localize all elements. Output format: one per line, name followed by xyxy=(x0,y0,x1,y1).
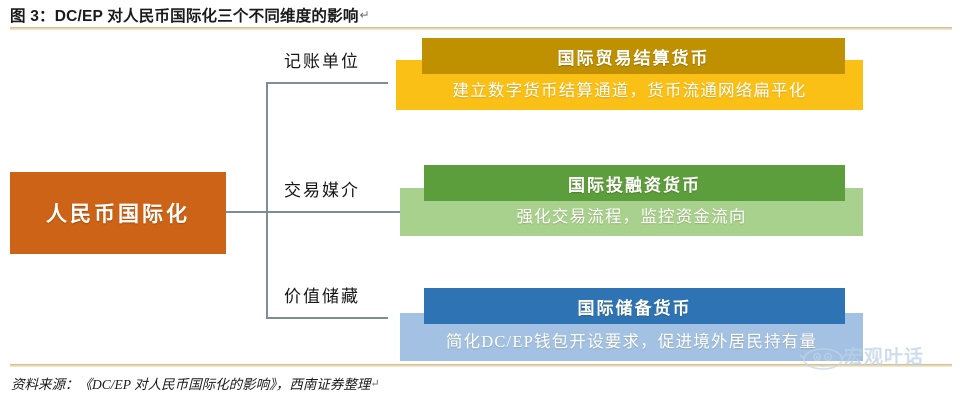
divider-bottom xyxy=(10,364,952,367)
card-body-text-3: 简化DC/EP钱包开设要求，促进境外居民持有量 xyxy=(446,328,817,352)
dimension-label-store-of-value: 价值储藏 xyxy=(284,286,360,308)
card-body-text-2: 强化交易流程，监控资金流向 xyxy=(516,203,746,227)
connector-branch-2 xyxy=(266,211,402,213)
figure-title: 图 3：DC/EP 对人民币国际化三个不同维度的影响↵ xyxy=(10,4,940,26)
divider-top xyxy=(10,27,952,30)
card-header-text-3: 国际储备货币 xyxy=(578,294,692,319)
connector-trunk xyxy=(266,82,268,319)
card-header-text-1: 国际贸易结算货币 xyxy=(558,44,710,69)
card-header-text-2: 国际投融资货币 xyxy=(568,171,701,196)
connector-root-stub xyxy=(226,211,268,213)
card-header-3: 国际储备货币 xyxy=(424,288,845,324)
root-node-label: 人民币国际化 xyxy=(46,198,190,228)
root-node-rmb-internationalization[interactable]: 人民币国际化 xyxy=(10,172,226,254)
paragraph-mark-icon-source: ↵ xyxy=(370,378,379,390)
figure-title-text: 图 3：DC/EP 对人民币国际化三个不同维度的影响 xyxy=(10,8,359,25)
card-body-text-1: 建立数字货币结算通道，货币流通网络扁平化 xyxy=(453,77,807,101)
connector-branch-1 xyxy=(266,82,388,84)
figure-container: 图 3：DC/EP 对人民币国际化三个不同维度的影响↵ 人民币国际化 记账单位 … xyxy=(0,0,960,406)
card-header-2: 国际投融资货币 xyxy=(424,165,845,201)
dimension-label-medium-of-exchange: 交易媒介 xyxy=(284,180,360,202)
card-header-1: 国际贸易结算货币 xyxy=(422,38,845,74)
dimension-label-unit-of-account: 记账单位 xyxy=(284,51,360,73)
paragraph-mark-icon: ↵ xyxy=(360,8,370,22)
connector-branch-3 xyxy=(266,317,388,319)
figure-source: 资料来源：《DC/EP 对人民币国际化的影响》，西南证券整理↵ xyxy=(11,374,380,395)
figure-source-text: 资料来源：《DC/EP 对人民币国际化的影响》，西南证券整理 xyxy=(11,377,370,392)
